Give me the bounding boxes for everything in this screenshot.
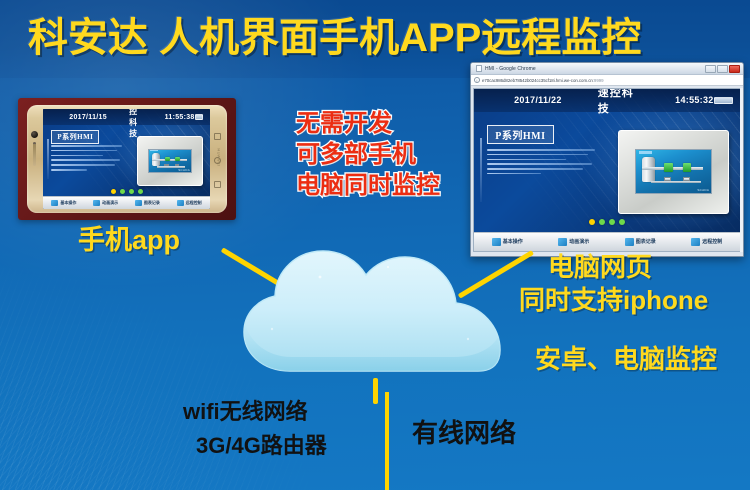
hmi-section-title: P系列HMI bbox=[487, 125, 553, 144]
hmi-description-text bbox=[487, 149, 599, 178]
hmi-tool-label: 基本操作 bbox=[60, 200, 76, 206]
carousel-dot[interactable] bbox=[129, 189, 134, 194]
browser-window[interactable]: HMI - Google Chrome i e70cac986d82eb7854… bbox=[470, 62, 744, 257]
browser-caption-line-1: 电脑网页 bbox=[548, 253, 652, 282]
phone-back-key-icon[interactable] bbox=[214, 133, 221, 140]
hmi-device-photo: SCADA bbox=[618, 130, 730, 214]
poster-canvas: 科安达 人机界面手机APP远程监控 HUAWEI 2017/11/15 速控科技… bbox=[0, 0, 750, 490]
hmi-topright-button[interactable] bbox=[195, 114, 203, 120]
address-bar-url[interactable]: e70cac986d82eb78542b024cc35cf18i.hmi.we-… bbox=[482, 78, 604, 83]
play-icon bbox=[93, 200, 100, 206]
hmi-logo: 速控科技 bbox=[598, 89, 644, 116]
hmi-tool-animation[interactable]: 动画演示 bbox=[558, 238, 589, 246]
carousel-dot[interactable] bbox=[589, 219, 595, 225]
network-divider bbox=[385, 392, 389, 490]
chart-icon bbox=[135, 200, 142, 206]
hmi-tool-remote[interactable]: 远程控制 bbox=[691, 238, 722, 246]
hmi-time: 14:55:32 bbox=[675, 95, 713, 105]
hmi-device-screen: SCADA bbox=[148, 149, 193, 174]
phone-brand-label: HUAWEI bbox=[216, 148, 221, 166]
phone-recents-key-icon[interactable] bbox=[214, 181, 221, 188]
browser-caption-line-3: 安卓、电脑监控 bbox=[535, 345, 717, 374]
browser-caption-line-2: 同时支持iphone bbox=[519, 286, 708, 315]
play-icon bbox=[558, 238, 567, 246]
hmi-side-accent bbox=[47, 139, 49, 179]
wifi-icon bbox=[691, 238, 700, 246]
center-callout: 无需开发 可多部手机 电脑同时监控 bbox=[296, 108, 440, 201]
hmi-topright-button[interactable] bbox=[714, 97, 733, 104]
callout-line-2: 可多部手机 bbox=[296, 139, 440, 170]
phone-body: HUAWEI 2017/11/15 速控科技 11:55:38 P系列HMI bbox=[27, 105, 227, 213]
carousel-dot[interactable] bbox=[111, 189, 116, 194]
hmi-tool-label: 图表记录 bbox=[636, 238, 656, 245]
hmi-time: 11:55:38 bbox=[165, 114, 195, 121]
callout-line-3: 电脑同时监控 bbox=[296, 170, 440, 201]
hmi-page-browser: 2017/11/22 速控科技 14:55:32 P系列HMI bbox=[474, 89, 740, 251]
close-icon[interactable] bbox=[729, 65, 740, 73]
chart-icon bbox=[625, 238, 634, 246]
hmi-tool-basic[interactable]: 基本操作 bbox=[51, 200, 76, 206]
hmi-device-screen: SCADA bbox=[635, 149, 713, 194]
hmi-tool-remote[interactable]: 远程控制 bbox=[177, 200, 202, 206]
hand-icon bbox=[51, 200, 58, 206]
network-wifi-line-2: 3G/4G路由器 bbox=[196, 434, 327, 459]
carousel-dot[interactable] bbox=[138, 189, 143, 194]
hmi-tool-label: 远程控制 bbox=[186, 200, 202, 206]
phone-screen[interactable]: 2017/11/15 速控科技 11:55:38 P系列HMI bbox=[43, 109, 210, 209]
maximize-button[interactable] bbox=[717, 65, 728, 73]
phone-mockup: HUAWEI 2017/11/15 速控科技 11:55:38 P系列HMI bbox=[18, 98, 236, 220]
network-wired-label: 有线网络 bbox=[412, 419, 516, 448]
carousel-dot[interactable] bbox=[609, 219, 615, 225]
minimize-button[interactable] bbox=[705, 65, 716, 73]
hmi-date: 2017/11/15 bbox=[69, 114, 107, 121]
hmi-date: 2017/11/22 bbox=[514, 95, 562, 105]
hmi-device-photo: SCADA bbox=[137, 136, 204, 186]
hmi-tool-animation[interactable]: 动画演示 bbox=[93, 200, 118, 206]
hmi-tool-label: 动画演示 bbox=[102, 200, 118, 206]
browser-window-title: HMI - Google Chrome bbox=[485, 66, 536, 72]
carousel-dot[interactable] bbox=[619, 219, 625, 225]
phone-camera-icon bbox=[31, 131, 38, 138]
info-icon[interactable]: i bbox=[474, 77, 480, 83]
hmi-page-phone: 2017/11/15 速控科技 11:55:38 P系列HMI bbox=[43, 109, 210, 209]
phone-speaker-icon bbox=[33, 144, 36, 166]
wifi-icon bbox=[177, 200, 184, 206]
cloud-graphic bbox=[228, 243, 524, 393]
page-icon bbox=[476, 65, 482, 72]
hmi-bottom-toolbar: 基本操作 动画演示 图表记录 远程控制 bbox=[43, 196, 210, 209]
network-wifi-line-1: wifi无线网络 bbox=[183, 400, 308, 425]
hmi-status-bar: 2017/11/22 速控科技 14:55:32 bbox=[474, 89, 740, 112]
browser-titlebar[interactable]: HMI - Google Chrome bbox=[471, 63, 743, 75]
hmi-tool-chart[interactable]: 图表记录 bbox=[135, 200, 160, 206]
browser-scrollbar[interactable] bbox=[740, 88, 743, 252]
hmi-tool-label: 图表记录 bbox=[144, 200, 160, 206]
phone-caption: 手机app bbox=[78, 225, 180, 255]
hmi-tool-label: 远程控制 bbox=[702, 238, 722, 245]
hmi-carousel-dots[interactable] bbox=[589, 219, 625, 225]
browser-address-bar[interactable]: i e70cac986d82eb78542b024cc35cf18i.hmi.w… bbox=[471, 75, 743, 86]
carousel-dot[interactable] bbox=[120, 189, 125, 194]
hmi-carousel-dots[interactable] bbox=[111, 189, 143, 194]
browser-viewport[interactable]: 2017/11/22 速控科技 14:55:32 P系列HMI bbox=[473, 88, 741, 252]
hmi-status-bar: 2017/11/15 速控科技 11:55:38 bbox=[43, 109, 210, 125]
hmi-description-text bbox=[51, 145, 124, 174]
page-title: 科安达 人机界面手机APP远程监控 bbox=[28, 14, 728, 62]
hmi-logo: 速控科技 bbox=[129, 109, 145, 139]
hmi-side-accent bbox=[480, 138, 482, 203]
window-controls[interactable] bbox=[705, 65, 741, 73]
carousel-dot[interactable] bbox=[599, 219, 605, 225]
hmi-section-title: P系列HMI bbox=[51, 130, 99, 144]
hmi-tool-label: 动画演示 bbox=[569, 238, 589, 245]
callout-line-1: 无需开发 bbox=[296, 108, 440, 139]
hmi-tool-chart[interactable]: 图表记录 bbox=[625, 238, 656, 246]
